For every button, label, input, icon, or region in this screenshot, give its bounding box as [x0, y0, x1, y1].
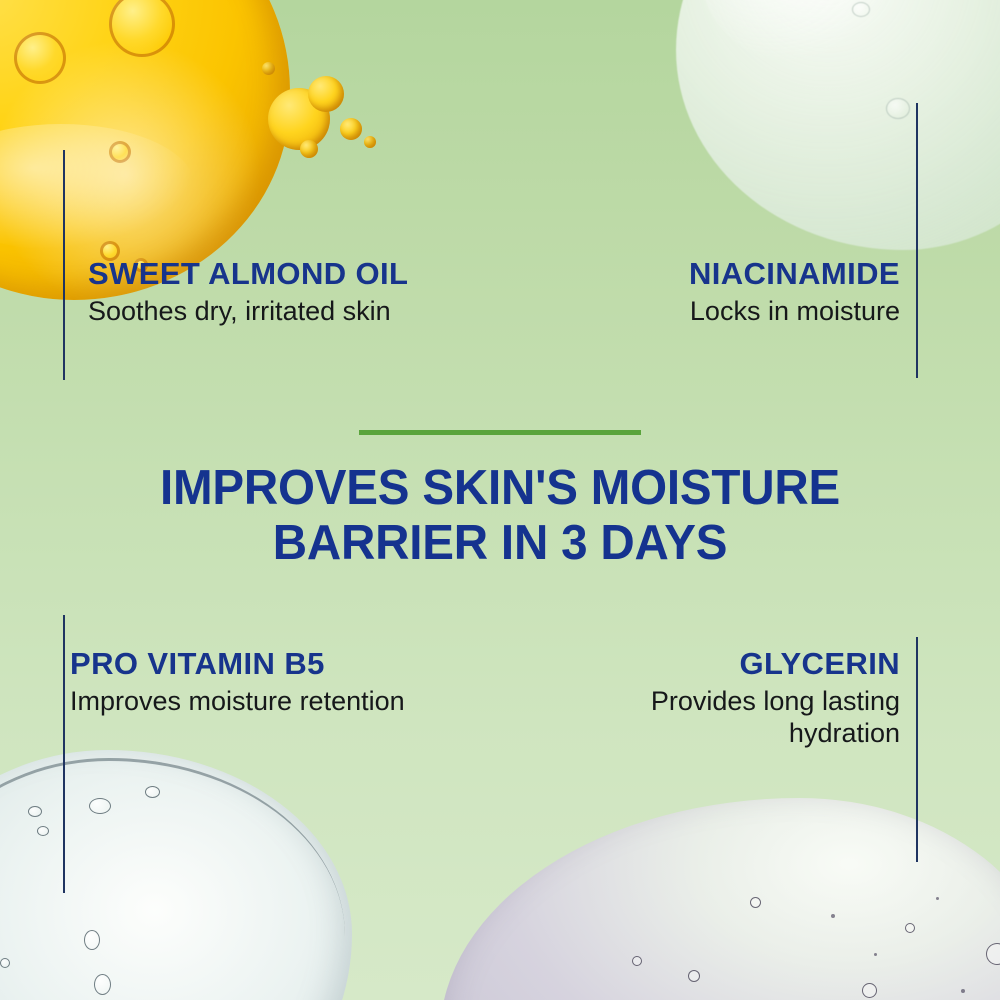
headline-line-2: BARRIER IN 3 DAYS [15, 516, 985, 571]
page-title: IMPROVES SKIN'S MOISTURE BARRIER IN 3 DA… [15, 461, 985, 572]
glycerin-speck-icon [874, 953, 877, 956]
ingredient-name-glycerin: GLYCERIN [651, 648, 900, 681]
ingredient-name-niacinamide: NIACINAMIDE [689, 258, 900, 291]
headline-line-1: IMPROVES SKIN'S MOISTURE [15, 461, 985, 516]
ingredient-description-glycerin: Provides long lastinghydration [651, 685, 900, 750]
callout-glycerin: GLYCERIN Provides long lastinghydration [651, 648, 900, 750]
glycerin-bubble-icon [986, 943, 1000, 965]
callout-niacinamide: NIACINAMIDE Locks in moisture [689, 258, 900, 327]
connector-line-sweet-almond-oil [63, 150, 65, 380]
glycerin-speck-icon [831, 914, 835, 918]
sweet-almond-oil-droplet-image [0, 0, 290, 300]
ingredient-name-sweet-almond-oil: SWEET ALMOND OIL [88, 258, 408, 291]
serum-bubble-icon [886, 98, 910, 119]
glycerin-bubble-icon [688, 970, 700, 982]
serum-bubble-icon [852, 2, 870, 17]
pro-vitamin-b5-gel-blob-image [0, 750, 352, 1000]
gel-bubble-icon [37, 826, 49, 836]
glycerin-speck-icon [961, 989, 965, 993]
connector-line-glycerin [916, 637, 918, 862]
niacinamide-serum-droplet-image [676, 0, 1000, 250]
oil-satellite-droplet-icon [300, 140, 318, 158]
oil-bubble-icon [109, 0, 175, 57]
ingredient-description-pro-vitamin-b5: Improves moisture retention [70, 685, 405, 717]
gel-bubble-icon [28, 806, 42, 817]
glycerin-bubble-icon [750, 897, 761, 908]
ingredient-description-niacinamide: Locks in moisture [689, 295, 900, 327]
green-accent-rule [359, 430, 641, 435]
gel-bubble-icon [94, 974, 111, 995]
oil-satellite-droplet-icon [364, 136, 376, 148]
oil-bubble-icon [14, 32, 66, 84]
connector-line-niacinamide [916, 103, 918, 378]
oil-satellite-droplet-icon [308, 76, 344, 112]
glycerin-description-line-1: Provides long lasting [651, 686, 900, 716]
glycerin-bubble-icon [632, 956, 642, 966]
connector-line-pro-vitamin-b5 [63, 615, 65, 893]
gel-bubble-icon [145, 786, 160, 798]
gel-bubble-icon [89, 798, 111, 814]
oil-satellite-droplet-icon [268, 88, 330, 150]
gel-bubble-icon [84, 930, 100, 950]
ingredient-benefits-infographic: SWEET ALMOND OIL Soothes dry, irritated … [0, 0, 1000, 1000]
oil-satellite-droplet-icon [340, 118, 362, 140]
ingredient-description-sweet-almond-oil: Soothes dry, irritated skin [88, 295, 408, 327]
glycerin-speck-icon [936, 897, 939, 900]
ingredient-name-pro-vitamin-b5: PRO VITAMIN B5 [70, 648, 405, 681]
glycerin-description-line-2: hydration [789, 718, 900, 748]
callout-pro-vitamin-b5: PRO VITAMIN B5 Improves moisture retenti… [70, 648, 405, 717]
callout-sweet-almond-oil: SWEET ALMOND OIL Soothes dry, irritated … [88, 258, 408, 327]
glycerin-bubble-icon [862, 983, 877, 998]
gel-bubble-icon [0, 958, 10, 968]
glycerin-bubble-icon [905, 923, 915, 933]
oil-satellite-droplet-icon [262, 62, 275, 75]
headline-block: IMPROVES SKIN'S MOISTURE BARRIER IN 3 DA… [0, 430, 1000, 572]
oil-bubble-icon [109, 141, 131, 163]
